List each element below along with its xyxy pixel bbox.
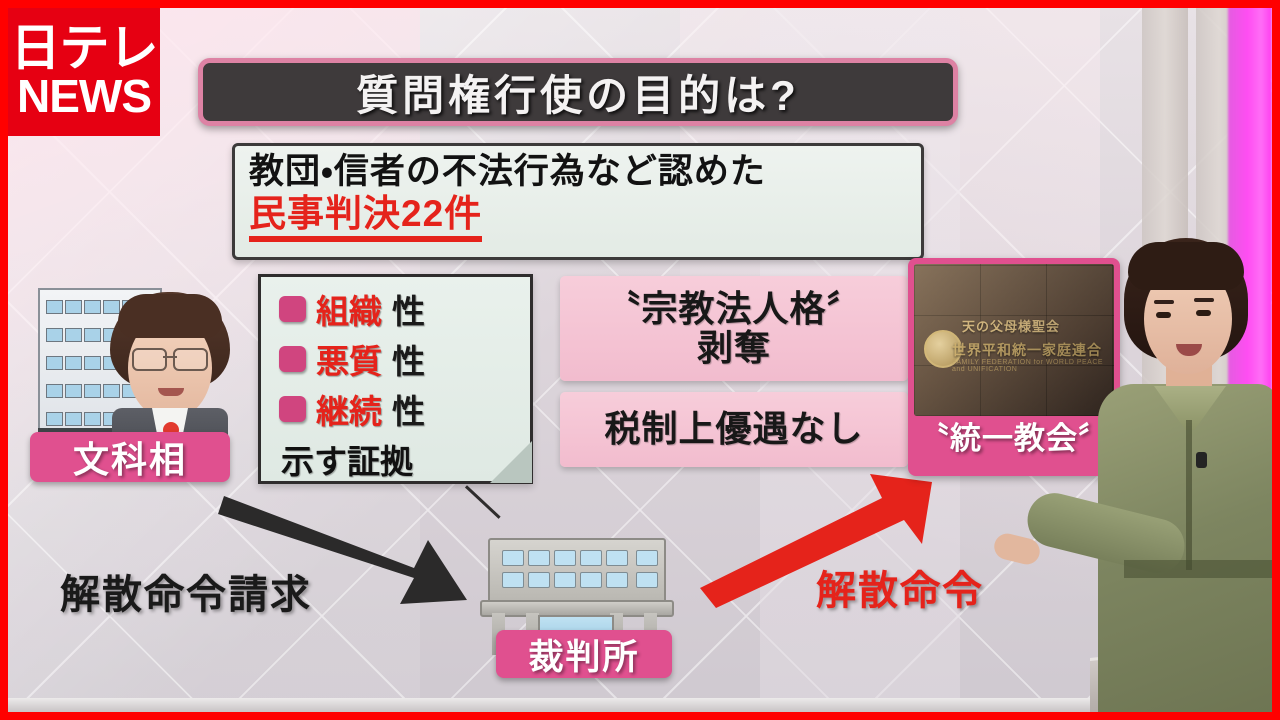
evidence-item: 悪質 性 [279, 335, 530, 383]
court-window [636, 550, 658, 566]
presenter-belt [1124, 560, 1278, 578]
consequence-panel-1: 〝宗教法人格〞 剥奪 [560, 276, 908, 381]
evidence-item-suffix: 性 [392, 385, 425, 433]
presenter-eye-left [1156, 312, 1171, 318]
evidence-item: 組織 性 [279, 285, 530, 333]
minister-label-text: 文科相 [73, 431, 187, 483]
minister-fringe [118, 294, 222, 338]
presenter-fringe [1128, 242, 1244, 290]
evidence-item-keyword: 継続 [316, 385, 382, 433]
evidence-item-keyword: 悪質 [316, 335, 382, 383]
ministry-building-window [65, 356, 82, 370]
verdict-line-2-highlight: 民事判決22件 [249, 193, 482, 241]
presenter-eye-right [1196, 310, 1211, 316]
ministry-building-window [84, 412, 101, 426]
court-window [580, 550, 602, 566]
ministry-building-window [84, 384, 101, 398]
glasses-lens-left [132, 348, 167, 371]
ministry-building-window [65, 384, 82, 398]
broadcaster-logo: 日テレ NEWS [8, 8, 160, 136]
court-window [502, 550, 524, 566]
ministry-building-window [84, 300, 101, 314]
presenter-brow-right [1194, 298, 1214, 302]
headline-text: 質問権行使の目的は? [356, 62, 800, 123]
court-window [554, 550, 576, 566]
court-window [580, 572, 602, 588]
consequence-panel-2-line-1: 税制上優遇なし [604, 410, 863, 449]
headline-bar: 質問権行使の目的は? [198, 58, 958, 126]
court-window [554, 572, 576, 588]
court-window [528, 550, 550, 566]
glasses-lens-right [173, 348, 208, 371]
ministry-building-window [46, 328, 63, 342]
court-label-text: 裁判所 [528, 629, 639, 680]
ministry-building-window [84, 356, 101, 370]
minister-label: 文科相 [30, 432, 230, 482]
verdict-card: 教団・信者の不法行為など認めた 民事判決22件 [232, 143, 924, 260]
consequence-panel-1-line-2: 剥奪 [697, 329, 771, 368]
court-window [606, 572, 628, 588]
consequence-panel-2: 税制上優遇なし [560, 392, 908, 467]
court-window [528, 572, 550, 588]
ministry-building-window [46, 300, 63, 314]
evidence-item-suffix: 性 [392, 285, 425, 333]
court-label: 裁判所 [496, 630, 672, 678]
ministry-building-window [65, 300, 82, 314]
court-window [606, 550, 628, 566]
minister-mouth [158, 388, 184, 396]
arrow-label-dissolution-request: 解散命令請求 [60, 562, 312, 620]
evidence-card: 組織 性 悪質 性 継続 性 示す証拠 [258, 274, 533, 484]
consequence-panel-1-line-1: 〝宗教法人格〞 [604, 290, 863, 329]
evidence-item-suffix: 性 [392, 335, 425, 383]
news-presenter [1078, 238, 1278, 720]
ministry-building-window [84, 328, 101, 342]
glasses-bridge [163, 356, 177, 358]
arrow-label-dissolution-order: 解散命令 [816, 558, 984, 616]
ministry-building-window [65, 412, 82, 426]
bullet-square-icon [279, 296, 306, 322]
lapel-microphone-icon [1196, 452, 1207, 468]
evidence-item-keyword: 組織 [316, 285, 382, 333]
presenter-placket [1186, 420, 1192, 570]
bullet-square-icon [279, 346, 306, 372]
presenter-brow-left [1154, 300, 1174, 304]
ministry-building-window [46, 356, 63, 370]
logo-line-1: 日テレ [11, 25, 158, 73]
verdict-line-1: 教団・信者の不法行為など認めた [249, 152, 907, 191]
court-window [502, 572, 524, 588]
glasses-icon [132, 348, 208, 368]
ministry-building-window [46, 412, 63, 426]
ministry-building-window [46, 384, 63, 398]
court-building-upper [488, 538, 666, 604]
court-window [636, 572, 658, 588]
evidence-item: 継続 性 [279, 385, 530, 433]
logo-line-2: NEWS [17, 73, 151, 119]
minister-portrait [110, 292, 230, 452]
bullet-square-icon [279, 396, 306, 422]
broadcast-screen: 日テレ NEWS 質問権行使の目的は? 教団・信者の不法行為など認めた 民事判決… [0, 0, 1280, 720]
ministry-building-window [65, 328, 82, 342]
